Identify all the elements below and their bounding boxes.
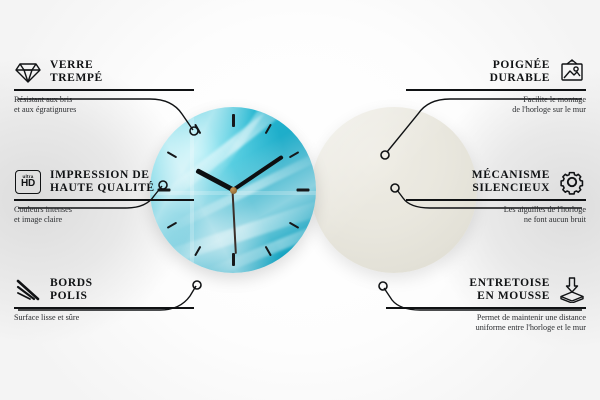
diamond-icon [14, 58, 42, 86]
callout-header: VERRE TREMPÉ [14, 58, 194, 86]
callout-title-line1: POIGNÉE [493, 59, 550, 71]
callout-description: Surface lisse et sûre [14, 313, 194, 324]
callout-desc-line1: Surface lisse et sûre [14, 313, 79, 322]
hanging-picture-frame-icon [558, 58, 586, 86]
callout-title: POIGNÉE DURABLE [490, 59, 550, 86]
feature-verre-trempe[interactable]: VERRE TREMPÉ Résistant aux bris et aux é… [14, 58, 194, 116]
hd-badge-large-text: HD [21, 179, 35, 189]
callout-desc-line1: Les aiguilles de l'horloge [504, 205, 586, 214]
callout-divider [406, 89, 586, 91]
callout-title-line2: POLIS [50, 290, 88, 302]
callout-title-line1: IMPRESSION DE [50, 169, 150, 181]
callout-title: BORDS POLIS [50, 277, 93, 304]
callout-title-line2: EN MOUSSE [477, 290, 550, 302]
callout-desc-line1: Facilite le montage [523, 95, 586, 104]
ultra-hd-badge-icon: ultra HD [14, 168, 42, 196]
callout-header: MÉCANISME SILENCIEUX [406, 168, 586, 196]
callout-desc-line2: et image claire [14, 215, 62, 224]
callout-title-line2: SILENCIEUX [472, 182, 550, 194]
callout-description: Les aiguilles de l'horloge ne font aucun… [406, 205, 586, 226]
callout-title: VERRE TREMPÉ [50, 59, 103, 86]
gear-icon [558, 168, 586, 196]
callout-desc-line1: Couleurs intenses [14, 205, 72, 214]
infographic-canvas: VERRE TREMPÉ Résistant aux bris et aux é… [0, 0, 600, 400]
callout-desc-line2: de l'horloge sur le mur [512, 105, 586, 114]
callout-title-line1: BORDS [50, 277, 93, 289]
callout-title: IMPRESSION DE HAUTE QUALITÉ [50, 169, 155, 196]
callout-title-line1: MÉCANISME [472, 169, 550, 181]
hour-marker [296, 189, 309, 192]
callout-title: ENTRETOISE EN MOUSSE [469, 277, 550, 304]
callout-header: BORDS POLIS [14, 276, 194, 304]
hands-center-cap [230, 187, 237, 194]
callout-desc-line1: Résistant aux bris [14, 95, 72, 104]
hour-marker [232, 253, 235, 266]
diagonal-lines-icon [14, 276, 42, 304]
callout-header: POIGNÉE DURABLE [406, 58, 586, 86]
callout-divider [14, 199, 194, 201]
feature-impression-haute-qualite[interactable]: ultra HD IMPRESSION DE HAUTE QUALITÉ Cou… [14, 168, 194, 226]
hour-marker [289, 151, 300, 158]
hour-marker [194, 124, 201, 135]
callout-description: Permet de maintenir une distance uniform… [386, 313, 586, 334]
callout-title-line1: ENTRETOISE [469, 277, 550, 289]
callout-divider [14, 89, 194, 91]
feature-bords-polis[interactable]: BORDS POLIS Surface lisse et sûre [14, 276, 194, 323]
callout-divider [386, 307, 586, 309]
callout-description: Couleurs intenses et image claire [14, 205, 194, 226]
callout-divider [14, 307, 194, 309]
arrow-onto-layers-icon [558, 276, 586, 304]
callout-description: Résistant aux bris et aux égratignures [14, 95, 194, 116]
callout-header: ENTRETOISE EN MOUSSE [386, 276, 586, 304]
hour-marker [167, 151, 178, 158]
callout-title-line2: DURABLE [490, 72, 550, 84]
feature-entretoise-en-mousse[interactable]: ENTRETOISE EN MOUSSE Permet de maintenir… [386, 276, 586, 334]
callout-desc-line2: et aux égratignures [14, 105, 76, 114]
feature-poignee-durable[interactable]: POIGNÉE DURABLE Facilite le montage de l… [406, 58, 586, 116]
callout-desc-line1: Permet de maintenir une distance [477, 313, 586, 322]
callout-title: MÉCANISME SILENCIEUX [472, 169, 550, 196]
callout-description: Facilite le montage de l'horloge sur le … [406, 95, 586, 116]
callout-divider [406, 199, 586, 201]
callout-title-line1: VERRE [50, 59, 93, 71]
callout-title-line2: HAUTE QUALITÉ [50, 182, 155, 194]
callout-desc-line2: uniforme entre l'horloge et le mur [476, 323, 586, 332]
callout-title-line2: TREMPÉ [50, 72, 103, 84]
hour-marker [232, 114, 235, 127]
feature-mecanisme-silencieux[interactable]: MÉCANISME SILENCIEUX Les aiguilles de l'… [406, 168, 586, 226]
callout-desc-line2: ne font aucun bruit [524, 215, 586, 224]
callout-header: ultra HD IMPRESSION DE HAUTE QUALITÉ [14, 168, 194, 196]
hd-badge-box: ultra HD [15, 170, 41, 194]
